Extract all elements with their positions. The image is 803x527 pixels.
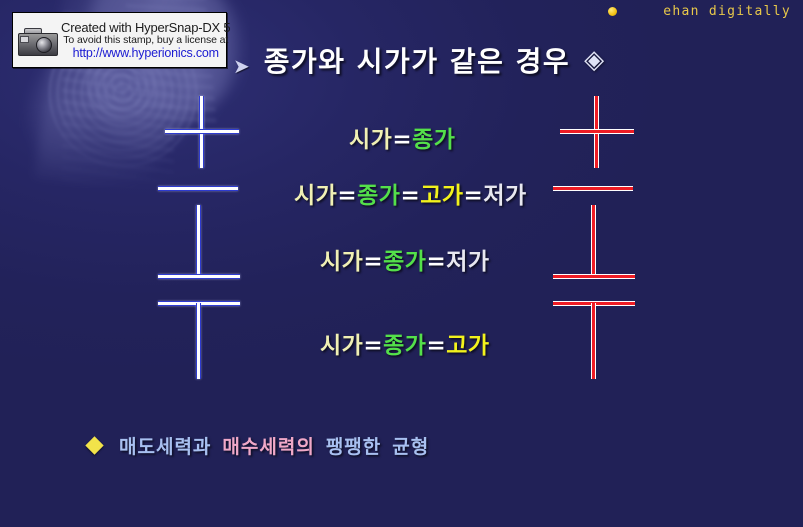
footer-segment: 매수세력의	[222, 436, 314, 458]
equation-label-1: 시가=종가	[349, 120, 455, 154]
candle-right-dragonfly-doji	[553, 205, 635, 279]
candle-left-doji-cross	[165, 96, 239, 168]
slide-title-row: ➤ 종가와 시가가 같은 경우 ◈	[233, 40, 604, 80]
equation-token: 저가	[483, 183, 526, 209]
equation-token: =	[400, 183, 420, 209]
candle-body	[553, 274, 635, 279]
presentation-slide: Created with HyperSnap-DX 5 To avoid thi…	[0, 0, 803, 527]
equation-token: 시가	[349, 127, 392, 153]
candle-body	[553, 186, 633, 191]
page-title: 종가와 시가가 같은 경우	[264, 40, 570, 80]
camera-icon	[16, 25, 58, 56]
equation-token: 시가	[320, 333, 363, 359]
candle-left-dragonfly-doji	[158, 205, 240, 279]
candle-wick	[591, 303, 596, 379]
equation-token: 종가	[357, 183, 400, 209]
equation-token: 종가	[412, 127, 455, 153]
equation-token: =	[363, 249, 383, 275]
candle-body	[158, 186, 238, 191]
footer-segment: 균형	[392, 436, 429, 458]
footer-segment: 팽팽한	[326, 436, 381, 458]
equation-token: =	[337, 183, 357, 209]
equation-token: 고가	[446, 333, 489, 359]
equation-token: =	[363, 333, 383, 359]
watermark-line-2: To avoid this stamp, buy a license at	[61, 35, 230, 46]
watermark-url-link[interactable]: http://www.hyperionics.com	[61, 47, 230, 60]
candle-wick	[196, 303, 201, 379]
brand-mark: ehan digitally	[608, 4, 791, 19]
hypersnap-watermark-stamp: Created with HyperSnap-DX 5 To avoid thi…	[12, 12, 227, 68]
brand-text: ehan digitally	[663, 4, 791, 19]
equation-token: =	[464, 183, 484, 209]
diamond-bullet-icon	[85, 436, 103, 454]
equation-label-3: 시가=종가=저가	[320, 242, 490, 276]
footer-text: 매도세력과매수세력의팽팽한균형	[119, 432, 440, 459]
candle-body	[165, 129, 239, 134]
diamond-icon: ◈	[584, 47, 604, 73]
candle-left-four-price-doji	[158, 186, 238, 192]
footer-bullet-line: 매도세력과매수세력의팽팽한균형	[88, 432, 440, 459]
equation-token: =	[426, 333, 446, 359]
candle-body	[560, 129, 634, 134]
candle-wick	[591, 205, 596, 277]
equation-token: 종가	[383, 333, 426, 359]
equation-token: 고가	[420, 183, 463, 209]
equation-token: 종가	[383, 249, 426, 275]
watermark-line-1: Created with HyperSnap-DX 5	[61, 21, 230, 34]
equation-token: 저가	[446, 249, 489, 275]
candle-left-gravestone-doji	[158, 301, 240, 379]
equation-token: =	[426, 249, 446, 275]
footer-segment: 매도세력과	[119, 436, 211, 458]
candle-body	[158, 274, 240, 279]
equation-label-2: 시가=종가=고가=저가	[294, 176, 527, 210]
equation-token: =	[392, 127, 412, 153]
equation-token: 시가	[294, 183, 337, 209]
candle-right-four-price-doji	[553, 186, 633, 192]
equation-label-4: 시가=종가=고가	[320, 326, 490, 360]
candle-right-gravestone-doji	[553, 301, 635, 379]
candle-right-doji-cross	[560, 96, 634, 168]
candle-wick	[196, 205, 201, 277]
equation-token: 시가	[320, 249, 363, 275]
chevron-right-icon: ➤	[233, 56, 250, 76]
yellow-dot-icon	[608, 7, 617, 16]
